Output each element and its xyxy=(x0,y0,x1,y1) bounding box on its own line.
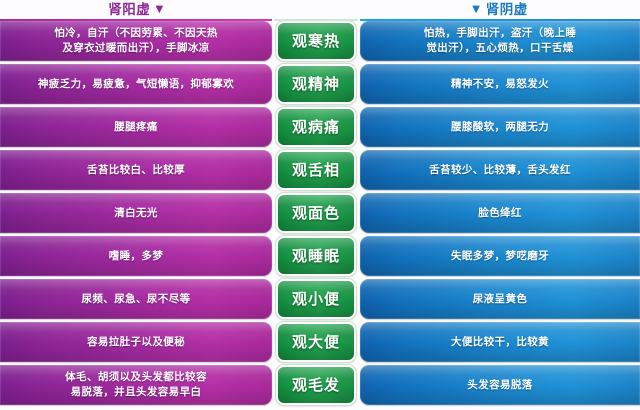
header-kidney-yang-deficiency: 肾阳虚 ▼ xyxy=(0,0,272,19)
category-label-text: 观精神 xyxy=(292,77,340,92)
category-label-text: 观小便 xyxy=(292,292,340,307)
yang-symptom-text: 神疲乏力，易疲惫，气短懒语，抑郁寡欢 xyxy=(38,77,234,92)
yang-symptom-cell[interactable]: 清白无光 xyxy=(0,193,272,233)
yang-symptom-text: 尿频、尿急、尿不尽等 xyxy=(82,292,191,307)
chart-header: 肾阳虚 ▼ ▼ 肾阴虚 xyxy=(0,0,640,20)
chevron-down-icon-left: ▼ xyxy=(156,4,164,15)
comparison-row: 腰腿疼痛观病痛腰膝酸软，两腿无力 xyxy=(0,107,640,147)
yang-symptom-cell[interactable]: 容易拉肚子以及便秘 xyxy=(0,322,272,362)
category-label-text: 观舌相 xyxy=(292,163,340,178)
comparison-row: 容易拉肚子以及便秘观大便大便比较干，比较黄 xyxy=(0,322,640,362)
yang-symptom-cell[interactable]: 神疲乏力，易疲惫，气短懒语，抑郁寡欢 xyxy=(0,64,272,104)
yang-symptom-text: 清白无光 xyxy=(114,206,158,221)
comparison-row: 体毛、胡须以及头发都比较容 易脱落，并且头发容易早白观毛发头发容易脱落 xyxy=(0,365,640,405)
yang-symptom-cell[interactable]: 怕冷，自汗（不因劳累、不因天热 及穿衣过暖而出汗），手脚冰凉 xyxy=(0,21,272,61)
category-label-text: 观病痛 xyxy=(292,120,340,135)
comparison-row: 神疲乏力，易疲惫，气短懒语，抑郁寡欢观精神精神不安，易怒发火 xyxy=(0,64,640,104)
category-label-2[interactable]: 观精神 xyxy=(276,64,356,104)
yang-symptom-cell[interactable]: 体毛、胡须以及头发都比较容 易脱落，并且头发容易早白 xyxy=(0,365,272,405)
comparison-rows: 怕冷，自汗（不因劳累、不因天热 及穿衣过暖而出汗），手脚冰凉观寒热怕热，手脚出汗… xyxy=(0,21,640,408)
comparison-row: 怕冷，自汗（不因劳累、不因天热 及穿衣过暖而出汗），手脚冰凉观寒热怕热，手脚出汗… xyxy=(0,21,640,61)
category-label-text: 观大便 xyxy=(292,335,340,350)
yin-symptom-text: 腰膝酸软，两腿无力 xyxy=(451,120,549,135)
category-label-3[interactable]: 观病痛 xyxy=(276,107,356,147)
comparison-row: 嗜睡，多梦观睡眠失眠多梦，梦呓磨牙 xyxy=(0,236,640,276)
category-label-text: 观寒热 xyxy=(292,34,340,49)
yang-symptom-text: 舌苔比较白、比较厚 xyxy=(87,163,185,178)
category-label-text: 观面色 xyxy=(292,206,340,221)
header-kidney-yin-deficiency: ▼ 肾阴虚 xyxy=(360,0,640,19)
yang-symptom-text: 容易拉肚子以及便秘 xyxy=(87,335,185,350)
yang-symptom-cell[interactable]: 舌苔比较白、比较厚 xyxy=(0,150,272,190)
yin-symptom-text: 头发容易脱落 xyxy=(467,378,532,393)
yang-symptom-text: 体毛、胡须以及头发都比较容 易脱落，并且头发容易早白 xyxy=(65,370,207,400)
category-label-text: 观毛发 xyxy=(292,378,340,393)
yin-symptom-text: 舌苔较少、比较薄，舌头发红 xyxy=(429,163,571,178)
header-left-label: 肾阳虚 xyxy=(108,2,150,18)
category-label-4[interactable]: 观舌相 xyxy=(276,150,356,190)
category-label-9[interactable]: 观毛发 xyxy=(276,365,356,405)
yang-symptom-cell[interactable]: 尿频、尿急、尿不尽等 xyxy=(0,279,272,319)
yin-symptom-text: 怕热，手脚出汗，盗汗（晚上睡 觉出汗），五心烦热，口干舌燥 xyxy=(424,26,577,56)
yin-symptom-cell[interactable]: 失眠多梦，梦呓磨牙 xyxy=(360,236,640,276)
yang-symptom-text: 怕冷，自汗（不因劳累、不因天热 及穿衣过暖而出汗），手脚冰凉 xyxy=(54,26,218,56)
yin-symptom-cell[interactable]: 大便比较干，比较黄 xyxy=(360,322,640,362)
yin-symptom-text: 精神不安，易怒发火 xyxy=(451,77,549,92)
yin-symptom-cell[interactable]: 怕热，手脚出汗，盗汗（晚上睡 觉出汗），五心烦热，口干舌燥 xyxy=(360,21,640,61)
comparison-row: 舌苔比较白、比较厚观舌相舌苔较少、比较薄，舌头发红 xyxy=(0,150,640,190)
yin-symptom-cell[interactable]: 精神不安，易怒发火 xyxy=(360,64,640,104)
category-label-5[interactable]: 观面色 xyxy=(276,193,356,233)
yin-symptom-cell[interactable]: 尿液呈黄色 xyxy=(360,279,640,319)
category-label-1[interactable]: 观寒热 xyxy=(276,21,356,61)
yin-symptom-cell[interactable]: 脸色绛红 xyxy=(360,193,640,233)
comparison-row: 尿频、尿急、尿不尽等观小便尿液呈黄色 xyxy=(0,279,640,319)
yin-symptom-cell[interactable]: 腰膝酸软，两腿无力 xyxy=(360,107,640,147)
yang-symptom-cell[interactable]: 腰腿疼痛 xyxy=(0,107,272,147)
yang-symptom-cell[interactable]: 嗜睡，多梦 xyxy=(0,236,272,276)
yin-symptom-cell[interactable]: 头发容易脱落 xyxy=(360,365,640,405)
yang-symptom-text: 嗜睡，多梦 xyxy=(109,249,164,264)
category-label-6[interactable]: 观睡眠 xyxy=(276,236,356,276)
category-label-8[interactable]: 观大便 xyxy=(276,322,356,362)
header-right-label: 肾阴虚 xyxy=(486,2,528,18)
comparison-chart: 肾阳虚 ▼ ▼ 肾阴虚 怕冷，自汗（不因劳累、不因天热 及穿衣过暖而出汗），手脚… xyxy=(0,0,640,410)
yin-symptom-text: 尿液呈黄色 xyxy=(473,292,528,307)
yin-symptom-text: 失眠多梦，梦呓磨牙 xyxy=(451,249,549,264)
comparison-row: 清白无光观面色脸色绛红 xyxy=(0,193,640,233)
yin-symptom-cell[interactable]: 舌苔较少、比较薄，舌头发红 xyxy=(360,150,640,190)
category-label-7[interactable]: 观小便 xyxy=(276,279,356,319)
yang-symptom-text: 腰腿疼痛 xyxy=(114,120,158,135)
chevron-down-icon-right: ▼ xyxy=(472,4,480,15)
yin-symptom-text: 脸色绛红 xyxy=(478,206,522,221)
yin-symptom-text: 大便比较干，比较黄 xyxy=(451,335,549,350)
category-label-text: 观睡眠 xyxy=(292,249,340,264)
